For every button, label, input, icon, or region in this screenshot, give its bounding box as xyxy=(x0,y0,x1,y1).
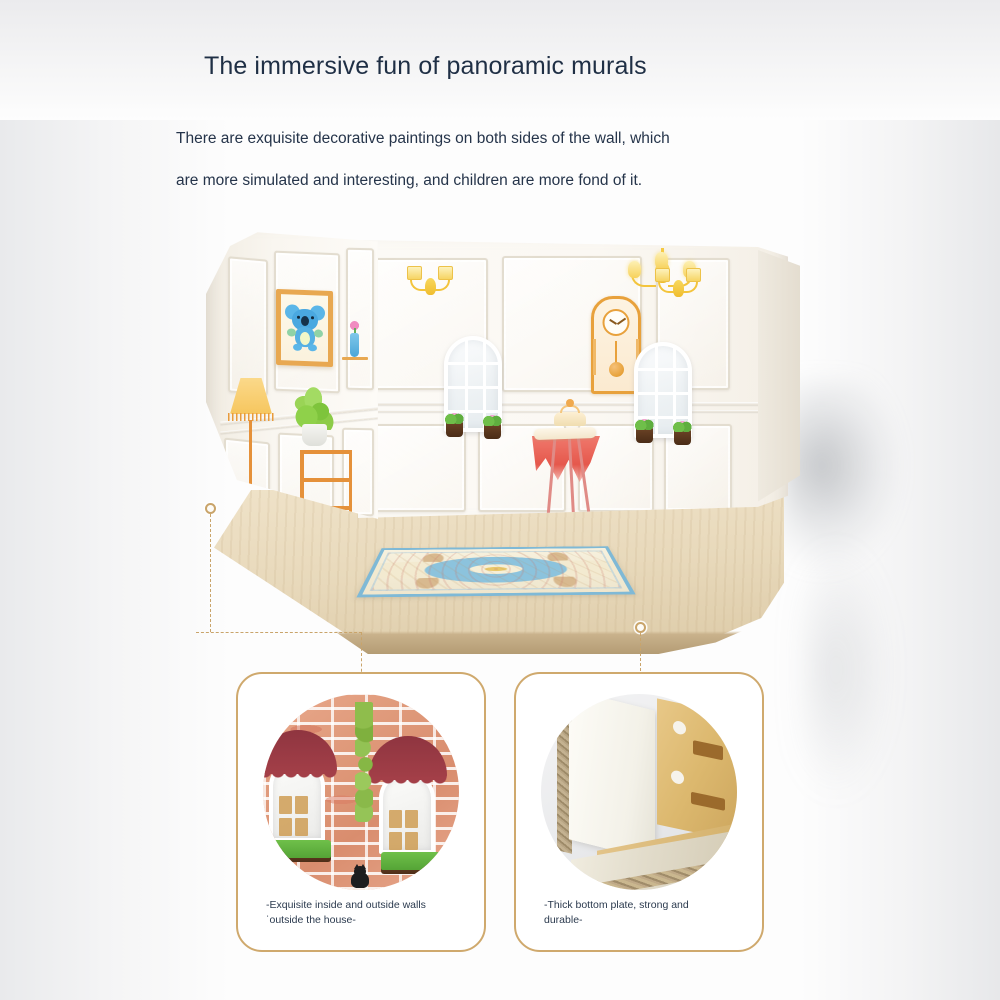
koala-arm xyxy=(287,328,296,336)
exterior-wall-caption: -Exquisite inside and outside walls ˈout… xyxy=(266,898,472,928)
ironing-board-top xyxy=(534,427,596,440)
window-flower-box xyxy=(446,422,463,437)
sconce-shade xyxy=(438,266,453,280)
koala-illustration xyxy=(285,304,325,352)
exterior-wall-photo xyxy=(263,694,459,890)
sconce-stem xyxy=(425,278,436,295)
clock-side-rail xyxy=(593,339,596,375)
bottom-plate-photo xyxy=(541,694,737,890)
page-title: The immersive fun of panoramic murals xyxy=(204,52,647,81)
wall-panel xyxy=(228,256,268,395)
koala-arm xyxy=(314,329,323,337)
page-description: There are exquisite decorative paintings… xyxy=(176,118,776,202)
wall-sconce-left xyxy=(406,264,454,298)
caption-line-1: -Thick bottom plate, strong and xyxy=(544,898,750,913)
board-slot xyxy=(691,792,725,811)
detail-card-exterior-wall[interactable]: -Exquisite inside and outside walls ˈout… xyxy=(236,672,486,952)
connector-line-left-horizontal xyxy=(196,632,362,633)
pendulum-bob xyxy=(609,362,624,377)
cat-body xyxy=(351,872,369,888)
connector-dot-right xyxy=(635,622,646,633)
koala-belly xyxy=(300,332,310,345)
wall-panel xyxy=(346,248,374,390)
sconce-shade xyxy=(407,266,422,280)
back-wall xyxy=(358,240,788,518)
left-wall xyxy=(206,228,378,528)
description-line-1: There are exquisite decorative paintings… xyxy=(176,118,776,160)
koala-eye xyxy=(311,316,314,319)
sconce-arm xyxy=(681,282,698,293)
koala-painting xyxy=(276,289,333,367)
description-line-2: are more simulated and interesting, and … xyxy=(176,160,776,202)
dollhouse-room-scene xyxy=(196,228,796,648)
bottom-plate-caption: -Thick bottom plate, strong and durable- xyxy=(544,898,750,928)
connector-dot-left xyxy=(205,503,216,514)
detail-card-bottom-plate[interactable]: -Thick bottom plate, strong and durable- xyxy=(514,672,764,952)
hedge-left xyxy=(271,840,331,858)
sconce-arm xyxy=(433,280,450,291)
connector-line-left-drop xyxy=(361,632,362,677)
sconce-stem xyxy=(673,280,684,297)
background-shadow-blob-secondary xyxy=(800,540,890,800)
clothes-iron xyxy=(554,412,586,426)
connector-line-left-vertical xyxy=(210,514,211,632)
clock-hour-hand xyxy=(609,319,617,325)
iron-knob xyxy=(566,399,574,407)
kraft-board-panel xyxy=(657,698,737,843)
page-root: The immersive fun of panoramic murals Th… xyxy=(0,0,1000,1000)
floor-rug xyxy=(356,546,635,597)
sconce-shade xyxy=(655,268,670,282)
koala-nose xyxy=(301,316,309,326)
caption-line-2: durable- xyxy=(544,913,750,928)
koala-eye xyxy=(297,316,300,319)
wainscot-panel xyxy=(368,424,466,512)
chandelier-bulb xyxy=(628,261,641,278)
board-slot xyxy=(693,740,723,760)
sconce-shade xyxy=(686,268,701,282)
right-wall-return xyxy=(758,250,800,512)
caption-line-1: -Exquisite inside and outside walls xyxy=(266,898,472,913)
caption-line-2: ˈoutside the house- xyxy=(266,913,472,928)
clock-minute-hand xyxy=(616,318,625,325)
plant-stand-shelf xyxy=(300,450,352,454)
plant-stand-shelf xyxy=(300,478,352,482)
window-flower-box xyxy=(674,430,691,445)
board-hole xyxy=(673,720,686,736)
board-hole xyxy=(671,769,684,785)
potted-plant-pot xyxy=(302,424,327,446)
hanging-vine xyxy=(355,702,373,822)
black-cat xyxy=(349,864,371,888)
hedge-right xyxy=(381,852,441,870)
white-wall-panel xyxy=(569,694,655,861)
koala-foot xyxy=(308,344,317,351)
wall-sconce-right xyxy=(654,266,702,300)
clock-face xyxy=(603,309,630,336)
koala-foot xyxy=(293,344,302,351)
vase-shelf xyxy=(342,357,368,360)
mini-vase xyxy=(350,333,359,357)
window-flower-box xyxy=(636,428,653,443)
window-flower-box xyxy=(484,424,501,439)
